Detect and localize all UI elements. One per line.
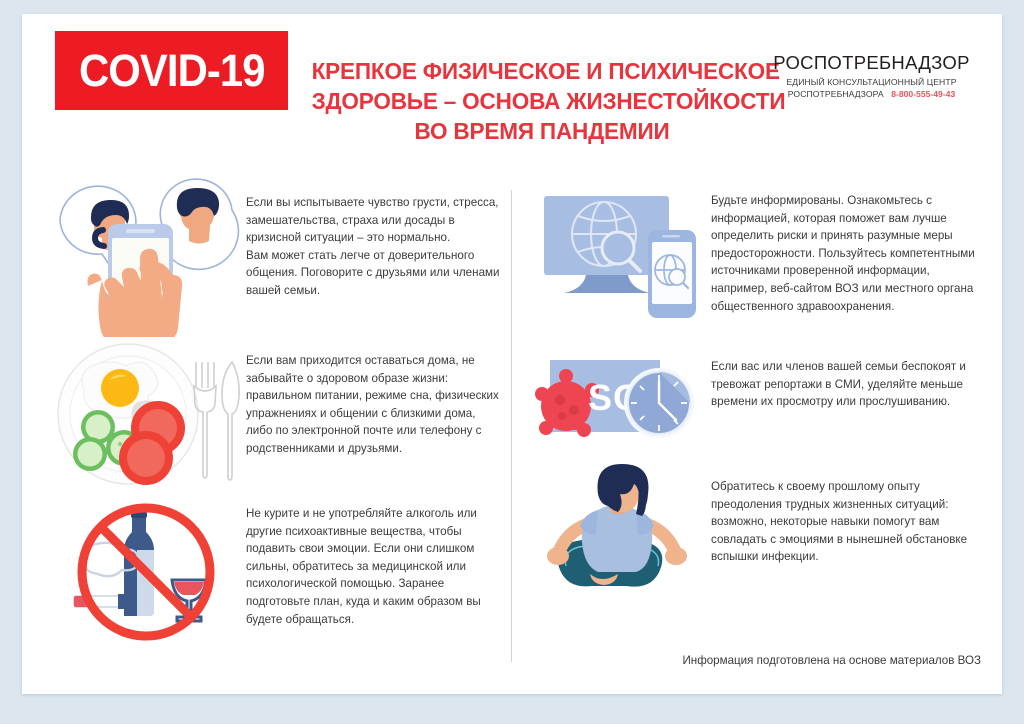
tip-item: SOS Если вас или членов вашей — [526, 350, 981, 462]
monitor-globe-search-icon — [526, 172, 711, 322]
page-title-line-1: КРЕПКОЕ ФИЗИЧЕСКОЕ И ПСИХИЧЕСКОЕ — [312, 56, 773, 86]
brand-subtitle-line-1: ЕДИНЫЙ КОНСУЛЬТАЦИОННЫЙ ЦЕНТР — [769, 77, 974, 89]
tip-paragraph: Если вам приходится оставаться дома, не … — [246, 352, 501, 458]
tip-text: Если вас или членов вашей семьи беспокоя… — [711, 350, 981, 411]
healthy-meal-plate-icon — [46, 342, 246, 492]
tip-paragraph: Будьте информированы. Ознакомьтесь с инф… — [711, 192, 981, 315]
column-divider — [511, 190, 512, 662]
covid-19-badge-label: COVID-19 — [79, 48, 265, 93]
covid-19-badge: COVID-19 — [55, 31, 288, 110]
left-column: Если вы испытываете чувство грусти, стре… — [46, 172, 501, 652]
tip-paragraph: Если вы испытываете чувство грусти, стре… — [246, 194, 501, 300]
tip-text: Если вы испытываете чувство грусти, стре… — [246, 172, 501, 300]
brand-subtitle-line-2: РОСПОТРЕБНАДЗОРА 8-800-555-49-43 — [769, 89, 974, 101]
poster-header: COVID-19 КРЕПКОЕ ФИЗИЧЕСКОЕ И ПСИХИЧЕСКО… — [22, 14, 1002, 154]
tip-paragraph: Если вас или членов вашей семьи беспокоя… — [711, 358, 981, 411]
poster-page: COVID-19 КРЕПКОЕ ФИЗИЧЕСКОЕ И ПСИХИЧЕСКО… — [22, 14, 1002, 694]
right-column: Будьте информированы. Ознакомьтесь с инф… — [526, 172, 981, 612]
tip-item: Не курите и не употребляйте алкоголь или… — [46, 502, 501, 652]
tip-text: Будьте информированы. Ознакомьтесь с инф… — [711, 172, 981, 315]
hotline-phone-number: 8-800-555-49-43 — [891, 89, 955, 99]
rospotrebnadzor-brand: РОСПОТРЕБНАДЗОР ЕДИНЫЙ КОНСУЛЬТАЦИОННЫЙ … — [769, 52, 974, 100]
tip-text: Если вам приходится оставаться дома, не … — [246, 342, 501, 458]
tip-paragraph: Обратитесь к своему прошлому опыту преод… — [711, 478, 981, 566]
brand-subtitle: ЕДИНЫЙ КОНСУЛЬТАЦИОННЫЙ ЦЕНТР РОСПОТРЕБН… — [769, 77, 974, 100]
tip-paragraph: Не курите и не употребляйте алкоголь или… — [246, 505, 501, 628]
tip-item: Если вы испытываете чувство грусти, стре… — [46, 172, 501, 342]
tip-text: Не курите и не употребляйте алкоголь или… — [246, 502, 501, 628]
no-smoking-no-alcohol-icon — [46, 502, 246, 647]
page-title-line-3: ВО ВРЕМЯ ПАНДЕМИИ — [312, 116, 773, 146]
tip-item: Обратитесь к своему прошлому опыту преод… — [526, 462, 981, 612]
tip-item: Если вам приходится оставаться дома, не … — [46, 342, 501, 502]
woman-meditating-lotus-icon — [526, 462, 711, 612]
page-title-line-2: ЗДОРОВЬЕ – ОСНОВА ЖИЗНЕСТОЙКОСТИ — [312, 86, 773, 116]
hand-holding-phone-chat-icon — [46, 172, 246, 337]
tip-item: Будьте информированы. Ознакомьтесь с инф… — [526, 172, 981, 350]
page-title: КРЕПКОЕ ФИЗИЧЕСКОЕ И ПСИХИЧЕСКОЕ ЗДОРОВЬ… — [312, 56, 773, 146]
sos-news-clock-icon: SOS — [526, 350, 711, 455]
tip-text: Обратитесь к своему прошлому опыту преод… — [711, 462, 981, 566]
footer-note: Информация подготовлена на основе матери… — [526, 654, 989, 667]
brand-subtitle-org: РОСПОТРЕБНАДЗОРА — [788, 89, 884, 99]
brand-name: РОСПОТРЕБНАДЗОР — [769, 52, 974, 74]
